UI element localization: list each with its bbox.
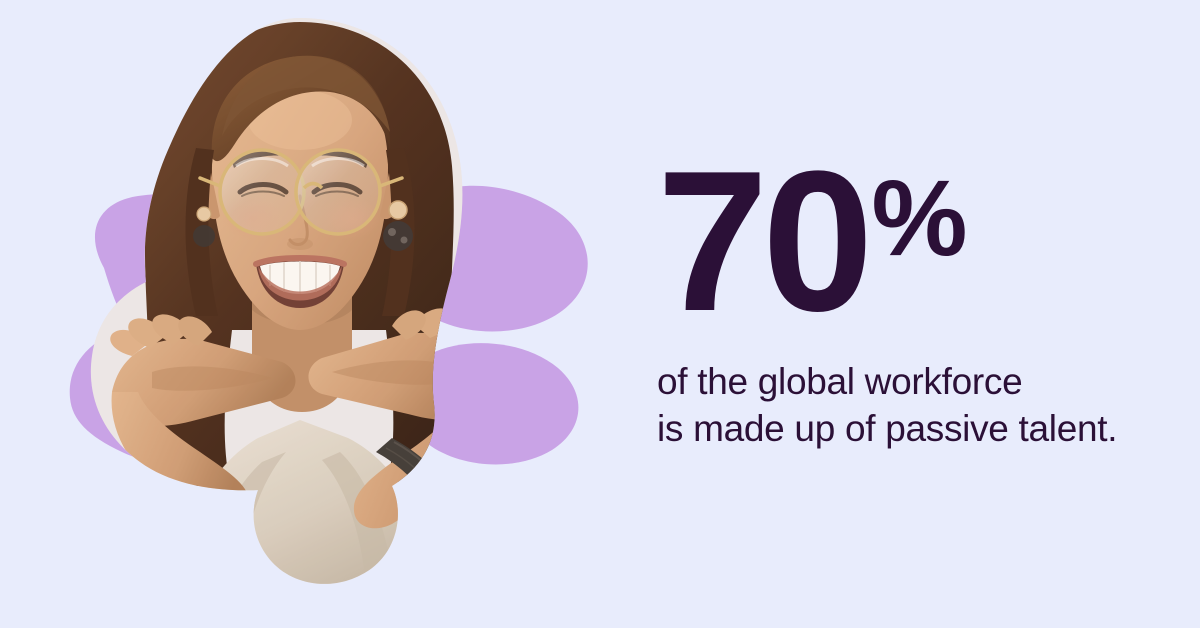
stat-description-line-1: of the global workforce [657,358,1157,405]
stat-headline: 70 % [657,160,1157,324]
stat-copy-block: 70 % of the global workforce is made up … [657,160,1157,453]
stat-percent-symbol: % [871,164,967,272]
promotional-stat-graphic: 70 % of the global workforce is made up … [0,0,1200,628]
stat-description-line-2: is made up of passive talent. [657,405,1157,452]
photo-composition [0,0,620,628]
stat-description: of the global workforce is made up of pa… [657,358,1157,453]
photo-illustration [0,0,620,628]
stat-number: 70 [657,160,867,324]
